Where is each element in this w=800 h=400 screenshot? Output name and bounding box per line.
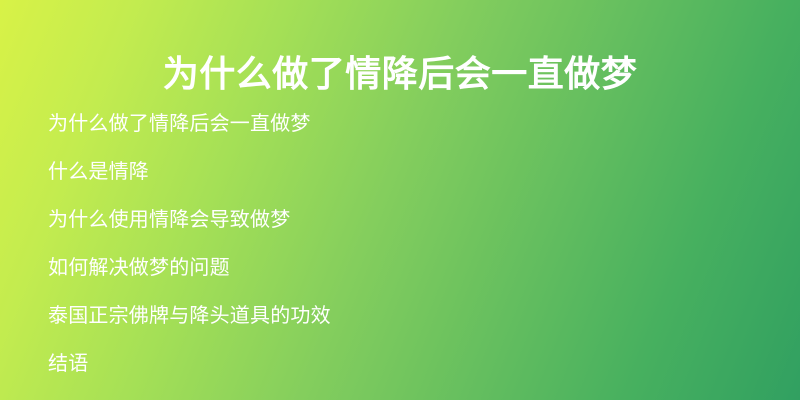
list-item: 泰国正宗佛牌与降头道具的功效 bbox=[48, 292, 760, 340]
page-title: 为什么做了情降后会一直做梦 bbox=[0, 46, 800, 102]
list-item: 为什么使用情降会导致做梦 bbox=[48, 196, 760, 244]
list-item: 如何解决做梦的问题 bbox=[48, 244, 760, 292]
list-item: 结语 bbox=[48, 340, 760, 388]
list-item: 什么是情降 bbox=[48, 148, 760, 196]
list-item: 为什么做了情降后会一直做梦 bbox=[48, 100, 760, 148]
article-cover-card: 为什么做了情降后会一直做梦 为什么做了情降后会一直做梦 什么是情降 为什么使用情… bbox=[0, 0, 800, 400]
table-of-contents: 为什么做了情降后会一直做梦 什么是情降 为什么使用情降会导致做梦 如何解决做梦的… bbox=[48, 100, 760, 388]
